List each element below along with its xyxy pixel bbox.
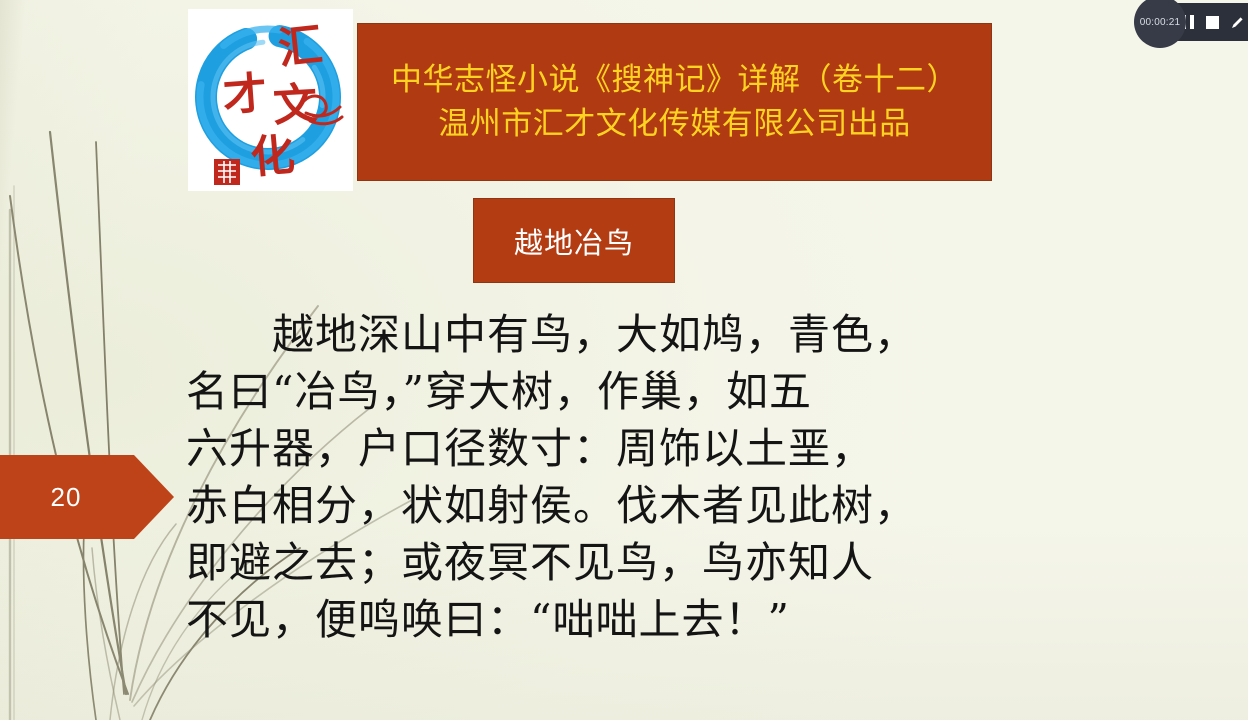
page-number: 20 — [51, 482, 82, 513]
body-text-block: 越地深山中有鸟，大如鸠，青色， 名曰“冶鸟，”穿大树，作巢，如五 六升器，户口径… — [186, 306, 1016, 648]
svg-text:化: 化 — [249, 129, 297, 184]
title-line-2: 温州市汇才文化传媒有限公司出品 — [438, 102, 911, 146]
presentation-slide: 汇 才 文 化 中华志怪小说《搜神记》详解（卷十二） 温州市汇才文化传媒有限公 — [0, 0, 1248, 720]
huicai-culture-logo-icon: 汇 才 文 化 — [188, 9, 353, 191]
stop-icon[interactable] — [1206, 16, 1219, 29]
body-line: 赤白相分，状如射侯。伐木者见此树， — [186, 477, 1016, 534]
svg-text:文: 文 — [272, 79, 319, 132]
svg-text:汇: 汇 — [276, 20, 325, 75]
svg-text:才: 才 — [221, 68, 268, 122]
body-line: 不见，便鸣唤曰：“咄咄上去！” — [186, 591, 1016, 648]
pencil-icon[interactable] — [1230, 15, 1245, 30]
title-banner: 中华志怪小说《搜神记》详解（卷十二） 温州市汇才文化传媒有限公司出品 — [357, 23, 992, 181]
subtitle-text: 越地冶鸟 — [514, 220, 634, 262]
body-line: 即避之去；或夜冥不见鸟，鸟亦知人 — [186, 534, 1016, 591]
body-line: 名曰“冶鸟，”穿大树，作巢，如五 — [186, 363, 1016, 420]
recording-timer-text: 00:00:21 — [1140, 17, 1181, 28]
logo-container: 汇 才 文 化 — [188, 9, 353, 191]
body-line: 六升器，户口径数寸：周饰以土垩， — [186, 420, 1016, 477]
body-line: 越地深山中有鸟，大如鸠，青色， — [186, 306, 1016, 363]
title-line-1: 中华志怪小说《搜神记》详解（卷十二） — [391, 58, 958, 102]
subtitle-banner: 越地冶鸟 — [473, 198, 675, 283]
